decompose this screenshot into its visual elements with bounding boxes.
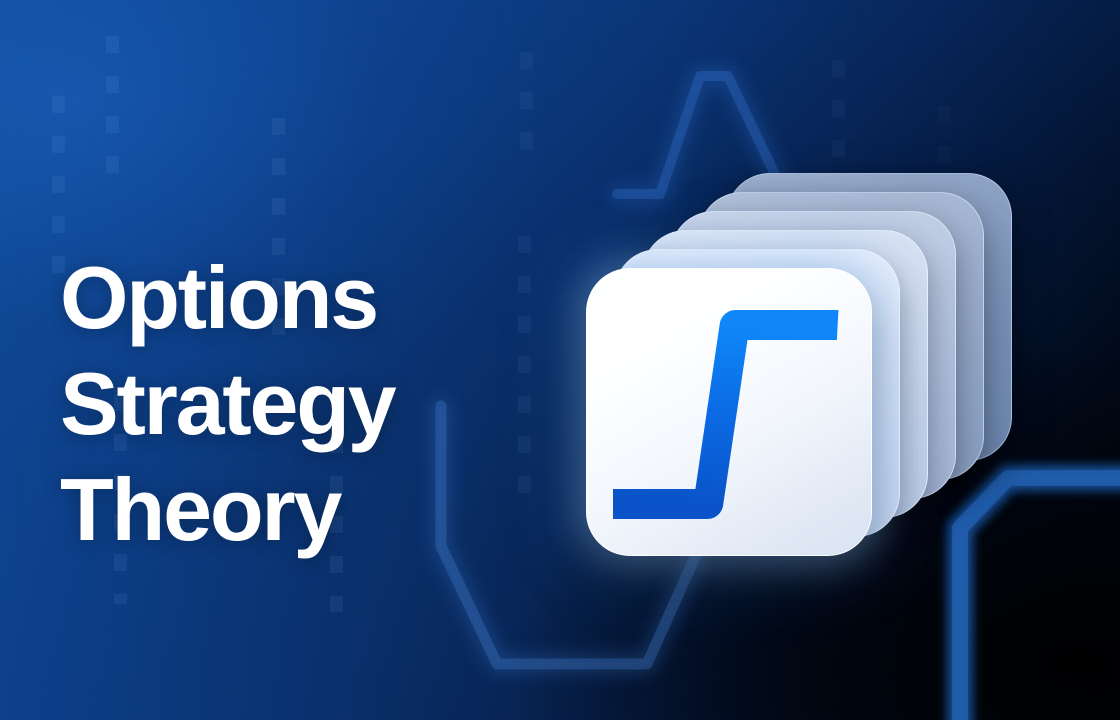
card-stack <box>586 268 872 556</box>
title-line-3: Theory <box>60 457 500 563</box>
step-payoff-icon <box>613 299 847 527</box>
page-title: Options Strategy Theory <box>60 245 500 563</box>
cover-canvas: Options Strategy Theory <box>0 0 1120 720</box>
title-line-1: Options <box>60 245 500 351</box>
stack-card-front <box>586 268 872 556</box>
title-line-2: Strategy <box>60 351 500 457</box>
